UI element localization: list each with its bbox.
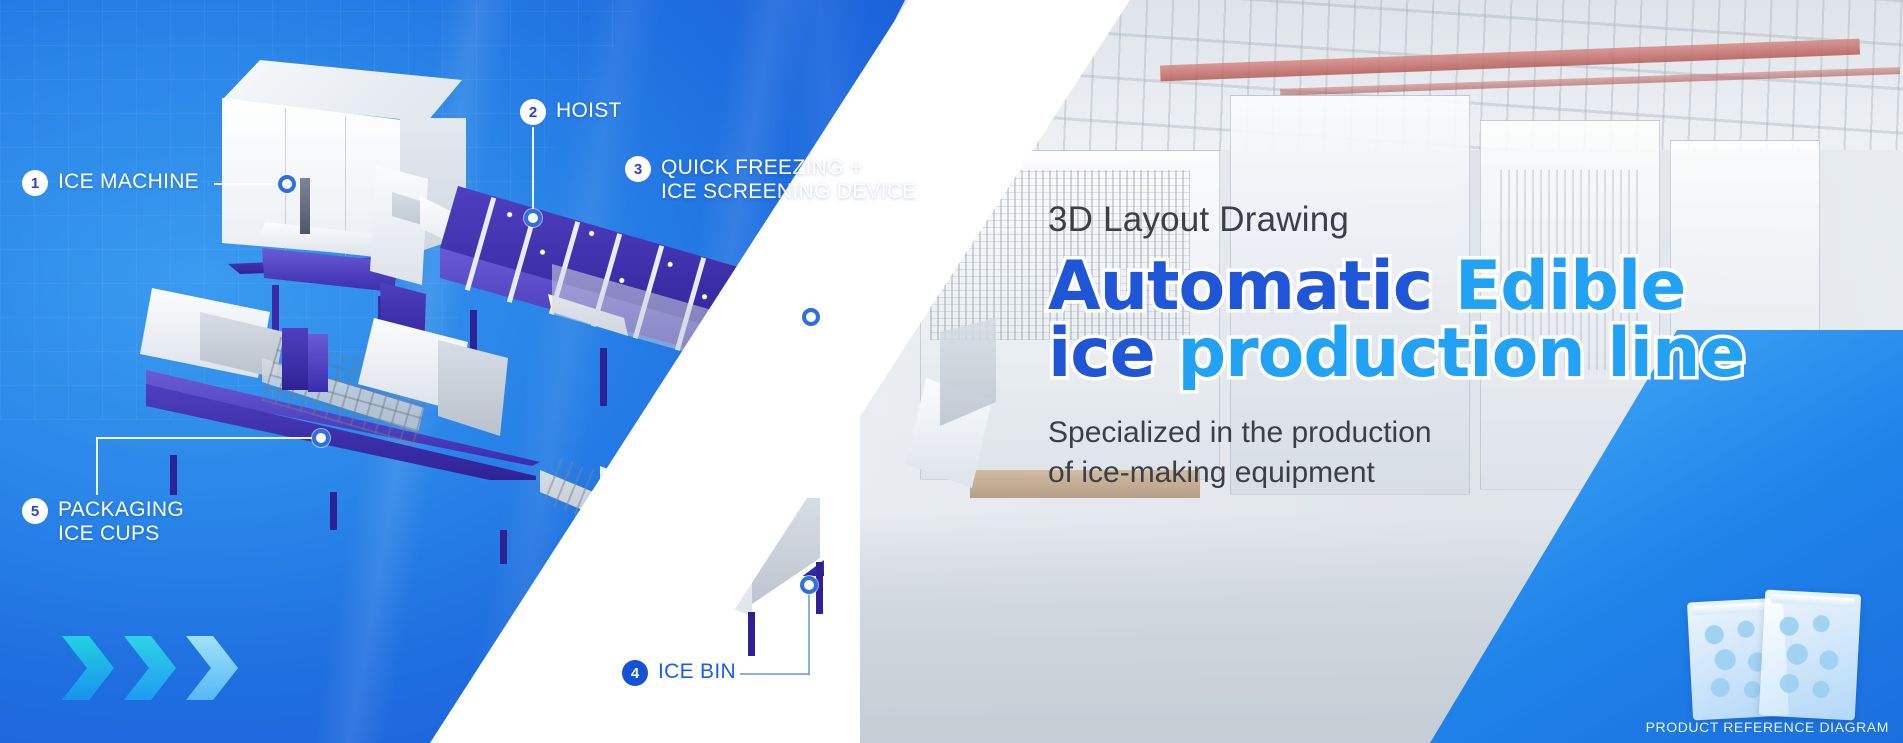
chevron-right-icon-3: [186, 636, 238, 700]
leader-line-2: [532, 127, 534, 213]
product-reference-label: PRODUCT REFERENCE DIAGRAM: [1646, 719, 1889, 735]
callout-dot-1: [278, 175, 296, 193]
headline-line-1: Automatic Edible: [1048, 254, 1888, 321]
leader-line-4: [740, 673, 810, 675]
callout-badge-3: 3: [625, 156, 651, 182]
leader-line-5: [96, 437, 98, 495]
headline-word-ice: ice: [1048, 321, 1155, 388]
leader-line-3: [810, 218, 812, 312]
leader-line-5b: [96, 437, 320, 439]
headline-words-production-line: production line: [1177, 321, 1744, 388]
ice-bin-leg-2: [748, 612, 755, 656]
callout-label-ice-bin: ICE BIN: [658, 660, 736, 684]
tunnel-leg-2: [600, 348, 607, 406]
subtitle-line-2: of ice-making equipment: [1048, 453, 1888, 493]
hoist-column: [370, 165, 428, 285]
callout-label-quick-freezing: QUICK FREEZING + ICE SCREENING DEVICE: [661, 156, 917, 204]
chevron-right-icon-2: [124, 636, 176, 700]
cup-filler-side: [438, 340, 508, 436]
callout-label-ice-machine: ICE MACHINE: [58, 170, 199, 194]
eyebrow-text: 3D Layout Drawing: [1048, 200, 1888, 240]
headline-word-automatic: Automatic: [1048, 254, 1432, 321]
callout-badge-1: 1: [22, 170, 48, 196]
callout-hoist[interactable]: 2 HOIST: [520, 99, 622, 125]
ice-machine-leg-1: [272, 285, 279, 337]
callout-badge-2: 2: [520, 99, 546, 125]
right-text-block: 3D Layout Drawing Automatic Edible ice p…: [1048, 200, 1888, 492]
callout-quick-freezing[interactable]: 3 QUICK FREEZING + ICE SCREENING DEVICE: [625, 156, 917, 204]
headline-line-2: ice production line: [1048, 321, 1888, 388]
ice-bag-right: [1759, 590, 1861, 721]
packaging-tower-1: [282, 328, 308, 390]
callout-dot-3: [802, 308, 820, 326]
ice-machine-chute: [300, 178, 310, 234]
packaging-leg-2: [330, 492, 337, 530]
packaging-leg-3: [500, 530, 507, 564]
subtitle-line-1: Specialized in the production: [1048, 413, 1888, 453]
callout-dot-5: [312, 429, 330, 447]
callout-dot-4: [800, 576, 818, 594]
callout-ice-bin[interactable]: 4 ICE BIN: [622, 660, 736, 686]
callout-label-hoist: HOIST: [556, 99, 622, 123]
leader-line-4b: [808, 590, 810, 675]
callout-ice-machine[interactable]: 1 ICE MACHINE: [22, 170, 199, 196]
packaging-leg-1: [170, 455, 177, 495]
callout-dot-2: [524, 209, 542, 227]
callout-badge-5: 5: [22, 498, 48, 524]
leader-line-1: [214, 183, 284, 185]
chevron-arrows: [62, 636, 238, 700]
subtitle-block: Specialized in the production of ice-mak…: [1048, 413, 1888, 492]
packaging-tower-2: [308, 334, 328, 392]
callout-packaging-ice-cups[interactable]: 5 PACKAGING ICE CUPS: [22, 498, 184, 546]
ice-cubes-right: [1767, 602, 1852, 712]
banner-root: PRODUCT REFERENCE DIAGRAM 1 ICE MACHINE …: [0, 0, 1903, 743]
callout-label-packaging: PACKAGING ICE CUPS: [58, 498, 184, 546]
headline-word-edible: Edible: [1455, 254, 1686, 321]
callout-badge-4: 4: [622, 660, 648, 686]
chevron-right-icon-1: [62, 636, 114, 700]
